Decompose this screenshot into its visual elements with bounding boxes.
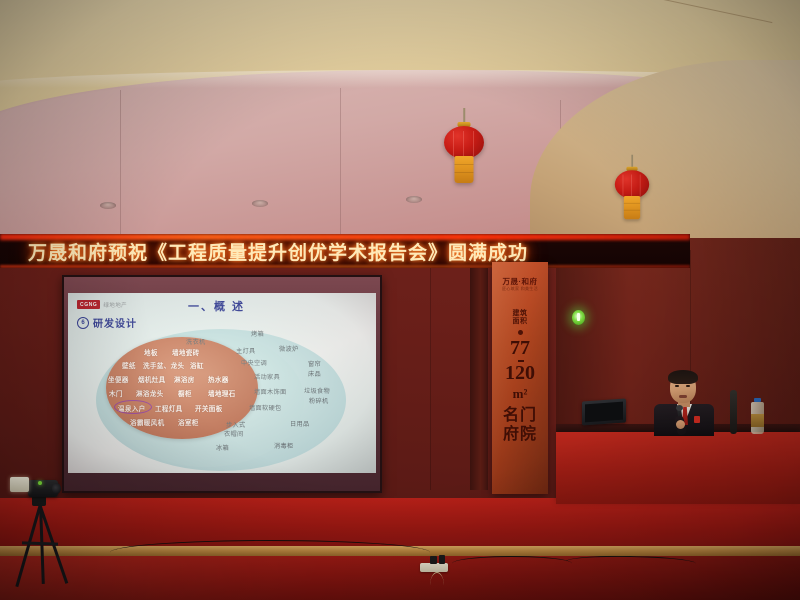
venn-outer-label: 衣帽间 xyxy=(224,429,243,438)
video-camera-tripod xyxy=(8,470,74,588)
floor-cable xyxy=(110,540,430,565)
conference-hall-photo: 万晟和府预祝《工程质量提升创优学术报告会》圆满成功 CGNG 绿地地产 一、概 … xyxy=(0,0,800,600)
venn-inner-label: 橱柜 xyxy=(178,388,192,398)
venn-outer-label: 粉碎机 xyxy=(309,396,328,405)
venn-inner-label: 热水器 xyxy=(208,374,229,384)
venn-outer-label: 中央空调 xyxy=(241,358,267,367)
lantern-tassel xyxy=(455,156,474,183)
venn-outer-label: 活动家具 xyxy=(254,372,280,381)
wall-panel-seam xyxy=(430,262,431,490)
banner-dot xyxy=(518,330,523,335)
tripod-leg xyxy=(15,504,42,587)
banner-number-min: 77 xyxy=(492,338,548,359)
venn-outer-label: 冰箱 xyxy=(216,443,229,452)
lantern-tassel xyxy=(624,196,640,219)
slide-section: 6 研发设计 xyxy=(77,315,137,330)
banner-tagline: 名门 府院 xyxy=(492,406,548,444)
slide-logo-wordmark: 绿地地产 xyxy=(103,301,127,309)
camera-flip-screen xyxy=(10,477,29,492)
venn-outer-label: 墙面软硬包 xyxy=(249,403,281,412)
presenter-with-microphone xyxy=(650,372,722,434)
venn-inner-label: 洗手盆、龙头 xyxy=(143,360,184,370)
led-banner-bottom-glow xyxy=(0,265,690,268)
venn-inner-label: 烟机灶具 xyxy=(138,374,166,384)
downlight xyxy=(406,196,422,203)
banner-unit: m² xyxy=(492,386,548,402)
slide-logo-mark: CGNG xyxy=(77,300,100,309)
downlight xyxy=(252,200,268,207)
banner-area-label: 建筑 面积 xyxy=(492,310,548,326)
venn-outer-label: 墙面木饰面 xyxy=(254,387,286,396)
slide-section-badge: 6 xyxy=(77,317,89,329)
banner-logo-sub: 匠心筑家 和美生活 xyxy=(492,286,548,292)
venn-inner-label: 木门 xyxy=(109,388,123,398)
presenter-hair xyxy=(668,370,698,384)
venn-outer-label: 日用品 xyxy=(290,419,309,428)
power-plug xyxy=(430,556,437,564)
led-banner-text: 万晟和府预祝《工程质量提升创优学术报告会》圆满成功 xyxy=(28,236,668,266)
slide-section-label: 研发设计 xyxy=(93,315,137,330)
microphone-stand xyxy=(730,390,737,434)
vertical-promo-banner: 万晟·和府 匠心筑家 和美生活 建筑 面积 77 120 m² 名门 府院 xyxy=(492,262,548,494)
venn-inner-label: 工程灯具 xyxy=(155,403,183,413)
laptop-screen xyxy=(585,402,623,423)
stage-carpet xyxy=(0,498,800,548)
presenter-mouth xyxy=(679,395,687,398)
venn-outer-label: 主灯具 xyxy=(236,346,255,355)
laptop-lid xyxy=(582,398,626,425)
highlight-ring xyxy=(114,400,152,414)
venn-inner-label: 壁纸 xyxy=(122,360,136,370)
presenter-lapel-badge xyxy=(694,416,700,423)
power-plug xyxy=(439,555,445,564)
camera-record-led xyxy=(38,481,42,485)
lantern-body xyxy=(444,126,484,159)
venn-inner-label: 地板 xyxy=(144,347,158,357)
door-frame xyxy=(470,250,488,490)
venn-outer-label: 窗帘 xyxy=(308,359,321,368)
tripod-head xyxy=(32,496,46,506)
venn-outer-label: 微波炉 xyxy=(279,344,298,353)
slide-logo: CGNG 绿地地产 xyxy=(77,300,127,309)
venn-inner-label: 淋浴房 xyxy=(174,374,195,384)
lantern-cord xyxy=(631,155,632,168)
projection-screen: CGNG 绿地地产 一、概 述 6 研发设计 洗衣机 烤箱 微波炉 主灯具 中央… xyxy=(64,277,380,491)
slide-title: 一、概 述 xyxy=(188,298,245,314)
green-indicator-light xyxy=(572,310,585,325)
venn-inner-label: 墙地瓷砖 xyxy=(172,347,200,357)
venn-outer-label: 床品 xyxy=(308,369,321,378)
venn-inner-label: 墙地理石 xyxy=(208,388,236,398)
lantern-cord xyxy=(463,108,465,123)
venn-outer-label: 烤箱 xyxy=(251,329,264,338)
banner-number-max: 120 xyxy=(492,363,548,384)
presenter-hand xyxy=(676,420,685,429)
red-lantern-right xyxy=(617,167,646,213)
water-bottle xyxy=(751,398,764,434)
camera-lens xyxy=(52,483,61,494)
floor-cable xyxy=(452,556,572,571)
venn-outer-label: 消毒柜 xyxy=(274,441,293,450)
venn-inner-label: 浴室柜 xyxy=(178,417,199,427)
led-banner: 万晟和府预祝《工程质量提升创优学术报告会》圆满成功 xyxy=(0,234,690,268)
venn-inner-label: 开关面板 xyxy=(195,403,223,413)
bottle-cap xyxy=(754,398,761,402)
power-strip xyxy=(420,563,448,572)
presenter-laptop xyxy=(582,400,628,428)
venn-outer-label: 步入式 xyxy=(226,420,245,429)
venn-inner-label: 坐便器 xyxy=(108,374,129,384)
venn-inner-label: 淋浴龙头 xyxy=(136,388,164,398)
venn-outer-label: 洗衣机 xyxy=(186,337,205,346)
red-lantern-left xyxy=(444,122,484,184)
venn-outer-label: 垃圾食物 xyxy=(304,386,330,395)
downlight xyxy=(100,202,116,209)
lantern-body xyxy=(615,170,649,198)
podium-red-drape xyxy=(556,432,800,504)
bottle-label xyxy=(751,414,764,427)
presentation-slide: CGNG 绿地地产 一、概 述 6 研发设计 洗衣机 烤箱 微波炉 主灯具 中央… xyxy=(68,293,376,473)
microphone-head xyxy=(676,405,683,411)
venn-inner-label: 浴缸 xyxy=(190,360,204,370)
power-strip-cable xyxy=(430,572,444,599)
venn-inner-label: 浴霸暖风机 xyxy=(130,417,164,427)
